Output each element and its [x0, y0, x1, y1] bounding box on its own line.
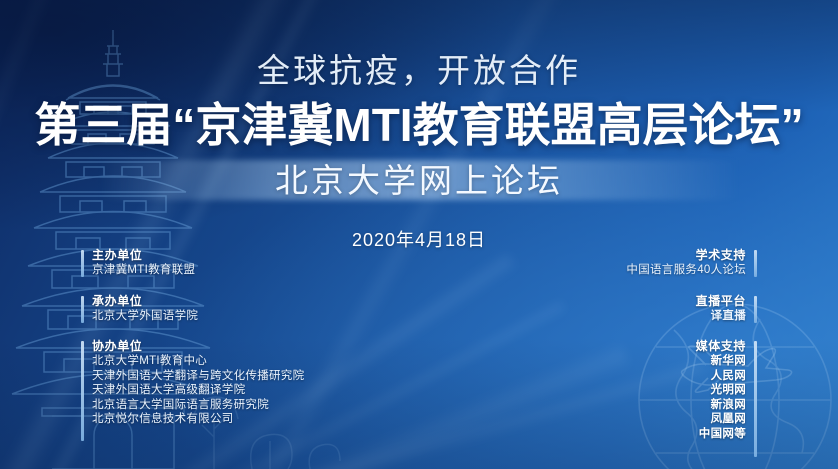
credits-left-column: 主办单位 京津冀MTI教育联盟 承办单位 北京大学外国语学院 协办单位 北京大学…: [92, 248, 304, 443]
credit-item: 新华网: [626, 354, 746, 369]
credit-group-organizer: 承办单位 北京大学外国语学院: [92, 294, 304, 324]
headline-block: 全球抗疫，开放合作 第三届“京津冀MTI教育联盟高层论坛” 北京大学网上论坛 2…: [0, 0, 838, 252]
credit-heading: 学术支持: [626, 248, 746, 263]
credit-heading: 协办单位: [92, 339, 304, 354]
kicker-text: 全球抗疫，开放合作: [0, 44, 838, 92]
credit-item: 天津外国语大学高级翻译学院: [92, 383, 304, 398]
credit-group-host: 主办单位 京津冀MTI教育联盟: [92, 248, 304, 278]
forum-poster: 全球抗疫，开放合作 第三届“京津冀MTI教育联盟高层论坛” 北京大学网上论坛 2…: [0, 0, 838, 469]
credit-heading: 媒体支持: [626, 339, 746, 354]
credit-item: 中国语言服务40人论坛: [626, 263, 746, 278]
credit-item: 凤凰网: [626, 412, 746, 427]
credit-group-coorganizer: 协办单位 北京大学MTI教育中心 天津外国语大学翻译与跨文化传播研究院 天津外国…: [92, 339, 304, 427]
accent-bar: [754, 341, 757, 457]
credit-item: 北京大学外国语学院: [92, 309, 304, 324]
accent-bar: [754, 250, 757, 277]
credit-item: 北京大学MTI教育中心: [92, 354, 304, 369]
credit-item: 京津冀MTI教育联盟: [92, 263, 304, 278]
credit-item: 光明网: [626, 383, 746, 398]
credit-item: 北京语言大学国际语言服务研究院: [92, 398, 304, 413]
accent-bar: [81, 341, 84, 441]
credit-item: 译直播: [626, 309, 746, 324]
credit-item: 天津外国语大学翻译与跨文化传播研究院: [92, 369, 304, 384]
credit-item: 人民网: [626, 369, 746, 384]
credit-group-live-platform: 直播平台 译直播: [626, 294, 746, 324]
subtitle-text: 北京大学网上论坛: [0, 154, 838, 202]
credit-heading: 主办单位: [92, 248, 304, 263]
accent-bar: [81, 250, 84, 277]
page-title: 第三届“京津冀MTI教育联盟高层论坛”: [0, 98, 838, 152]
credit-item: 北京悦尔信息技术有限公司: [92, 412, 304, 427]
credit-item: 中国网等: [626, 427, 746, 442]
credit-item: 新浪网: [626, 398, 746, 413]
credits-section: 主办单位 京津冀MTI教育联盟 承办单位 北京大学外国语学院 协办单位 北京大学…: [0, 248, 838, 463]
credit-group-academic-support: 学术支持 中国语言服务40人论坛: [626, 248, 746, 278]
accent-bar: [81, 296, 84, 323]
credits-right-column: 学术支持 中国语言服务40人论坛 直播平台 译直播 媒体支持 新华网 人民网 光…: [626, 248, 746, 457]
subtitle-band: 北京大学网上论坛: [0, 154, 838, 204]
credit-heading: 承办单位: [92, 294, 304, 309]
credit-group-media-support: 媒体支持 新华网 人民网 光明网 新浪网 凤凰网 中国网等: [626, 339, 746, 441]
accent-bar: [754, 296, 757, 323]
credit-heading: 直播平台: [626, 294, 746, 309]
